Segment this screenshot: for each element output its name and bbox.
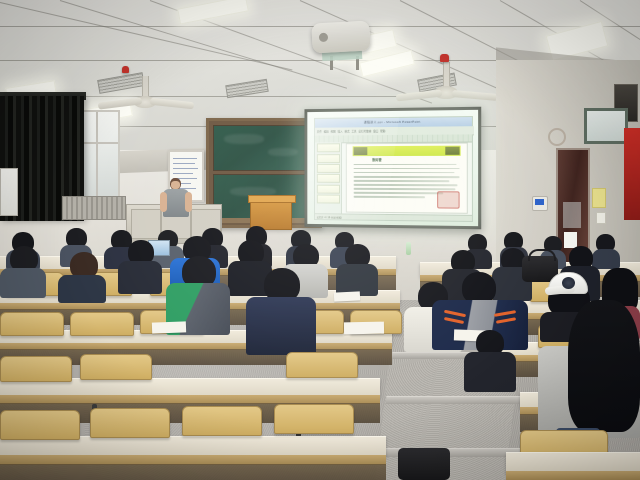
lectern-top <box>248 195 296 203</box>
ceiling-projector <box>311 21 370 54</box>
instructor <box>162 178 190 218</box>
powerpoint-window: 课程讲义.ppt - Microsoft PowerPoint 文件 编辑 视图… <box>314 116 473 223</box>
ceiling-fan-rod <box>443 62 450 88</box>
student <box>464 330 516 388</box>
bench-seat-back <box>80 354 152 380</box>
side-whiteboard <box>0 168 18 216</box>
bag-handle <box>528 249 555 261</box>
bench-seat-back <box>0 410 80 440</box>
bench-seat-back <box>274 404 354 434</box>
menu-item-window[interactable]: 窗口 <box>373 129 378 133</box>
slide-thumbnail[interactable] <box>317 174 340 183</box>
ceiling-fan-rod <box>142 76 149 98</box>
bench-seat-back <box>0 356 72 382</box>
slide-title: 数码管 <box>372 157 381 162</box>
paper-handout <box>152 321 186 333</box>
projected-image: 课程讲义.ppt - Microsoft PowerPoint 文件 编辑 视图… <box>307 110 478 226</box>
slide-thumbnail[interactable] <box>317 184 340 193</box>
transom-window <box>584 108 628 144</box>
water-bottle <box>406 242 411 255</box>
door-window <box>563 202 581 228</box>
menu-item-help[interactable]: 帮助 <box>380 129 385 133</box>
student <box>58 252 106 298</box>
active-slide: 数码管 <box>345 143 467 214</box>
menu-item-format[interactable]: 格式 <box>344 129 349 133</box>
student <box>336 244 378 294</box>
student-navy-sweater <box>246 268 316 352</box>
fire-alarm <box>440 54 449 62</box>
slide-thumbnail-panel[interactable] <box>315 143 342 214</box>
ceiling-fan-blade <box>150 98 194 110</box>
menu-item-insert[interactable]: 插入 <box>338 129 343 133</box>
projector-lens <box>319 33 328 42</box>
classroom-photo: 课程讲义.ppt - Microsoft PowerPoint 文件 编辑 视图… <box>0 0 640 480</box>
menu-item-view[interactable]: 视图 <box>331 130 336 134</box>
card-reader-led <box>535 199 544 205</box>
student <box>0 246 46 294</box>
menu-item-file[interactable]: 文件 <box>317 130 322 134</box>
cap-logo <box>562 277 575 289</box>
ceiling-fan-blade <box>452 90 498 101</box>
long-hair <box>568 300 640 432</box>
wall-notice <box>596 212 606 224</box>
wall-notice <box>592 188 606 208</box>
floor-step <box>385 396 520 404</box>
slide-seal-stamp <box>437 191 459 208</box>
powerpoint-statusbar: 幻灯片 4 / 18 中文(中国) <box>315 213 472 221</box>
air-vent <box>97 72 145 94</box>
slide-thumbnail[interactable] <box>317 144 340 153</box>
chalkboard-panel-upper <box>213 125 313 171</box>
slide-thumbnail[interactable] <box>317 154 340 163</box>
slide-header-image-right <box>445 147 459 155</box>
slide-header-band <box>352 146 460 156</box>
bench-seat-back <box>90 408 170 438</box>
baseball-cap <box>548 272 588 294</box>
access-card-reader[interactable] <box>532 196 548 211</box>
menu-item-slideshow[interactable]: 幻灯片放映 <box>358 129 371 133</box>
projection-screen: 课程讲义.ppt - Microsoft PowerPoint 文件 编辑 视图… <box>304 107 481 230</box>
student-green-polo <box>166 256 230 332</box>
student <box>118 240 162 292</box>
paper-handout <box>334 291 360 301</box>
bench-seat-back <box>70 312 134 336</box>
paper-handout <box>344 322 384 335</box>
bench-seat-back <box>182 406 262 436</box>
menu-item-tools[interactable]: 工具 <box>351 129 356 133</box>
menu-item-edit[interactable]: 编辑 <box>324 130 329 134</box>
ceiling-light-panel <box>359 50 415 78</box>
ceiling-light-panel <box>177 0 249 25</box>
shoulder-bag <box>398 448 450 480</box>
red-wall-banner <box>624 128 640 220</box>
slide-thumbnail[interactable] <box>317 164 340 173</box>
radiator <box>62 196 126 220</box>
fire-alarm <box>122 66 129 73</box>
bench-seat-back <box>0 312 64 336</box>
slide-thumbnail[interactable] <box>317 195 340 204</box>
bench-seat-back <box>286 352 358 378</box>
wall-fixture <box>548 128 566 146</box>
slide-header-image-left <box>353 147 367 155</box>
